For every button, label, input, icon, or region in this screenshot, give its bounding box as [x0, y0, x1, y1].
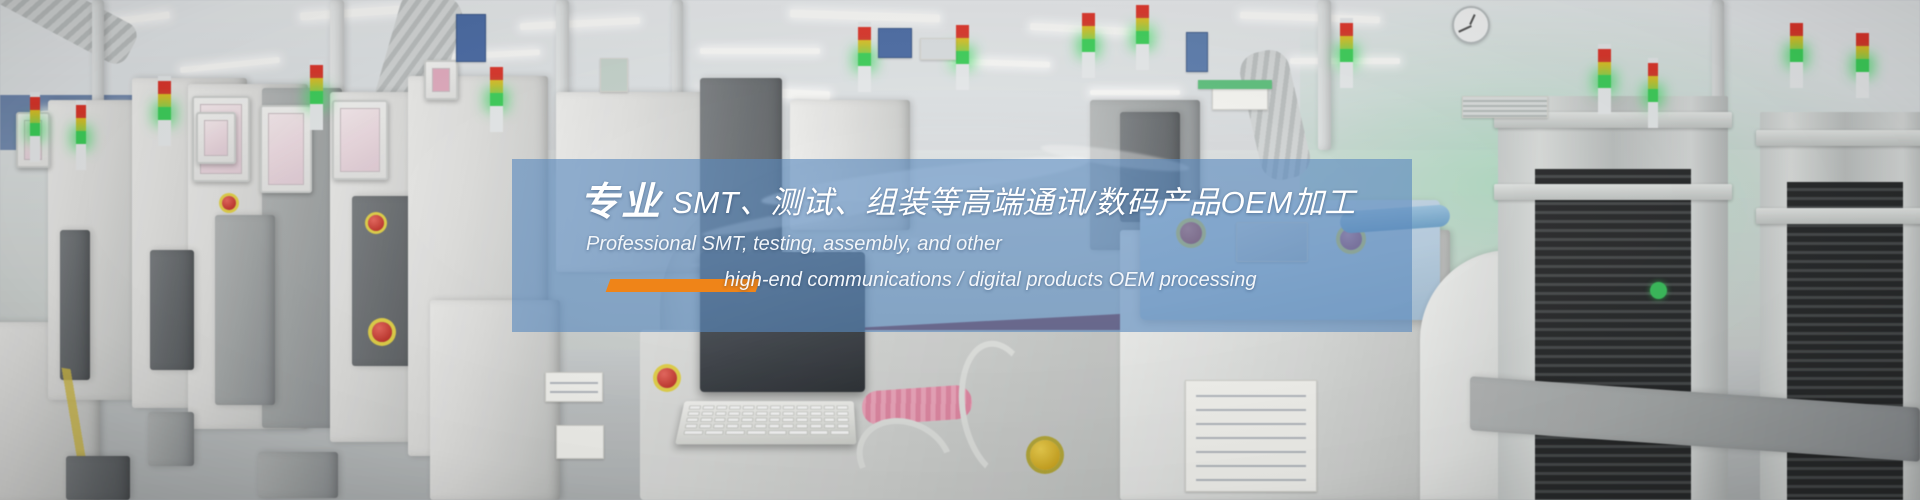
tower-light-icon: [1340, 18, 1353, 88]
tower-light-icon: [858, 22, 871, 92]
hero-subtitle-line-1: Professional SMT, testing, assembly, and…: [586, 233, 1002, 256]
emergency-stop-icon[interactable]: [372, 322, 392, 342]
emergency-stop-icon[interactable]: [657, 368, 677, 388]
machine-hmi-panel[interactable]: [196, 112, 236, 164]
smt-feeder-rack: [150, 250, 194, 370]
smt-machine-body: [215, 215, 275, 405]
machine-hmi-panel[interactable]: [260, 105, 312, 193]
ceiling-lamp: [1090, 90, 1180, 95]
machine-hmi-panel[interactable]: [424, 60, 458, 100]
tower-light-icon: [76, 100, 86, 170]
machine-hmi-panel[interactable]: [332, 100, 388, 180]
floor-cart: [66, 456, 130, 500]
tower-light-icon: [1598, 44, 1611, 114]
tower-light-icon: [1790, 18, 1803, 88]
hero-subtitle-line-2: high-end communications / digital produc…: [724, 269, 1256, 292]
wall-notice-board: [1212, 88, 1268, 110]
rack-cross-beam: [1494, 184, 1732, 200]
rack-cross-beam: [1756, 208, 1920, 224]
hero-banner-stage: 专业SMT、测试、组装等高端通讯/数码产品OEM加工 Professional …: [0, 0, 1920, 500]
wall-clock-icon: [1452, 6, 1490, 44]
tower-light-icon: [310, 60, 323, 130]
machine-name-plate: [556, 425, 604, 459]
rack-cross-beam: [1756, 130, 1920, 146]
tower-light-icon: [1136, 0, 1149, 70]
hanging-info-board: [878, 28, 912, 58]
tower-light-icon: [158, 76, 171, 146]
support-pole: [1318, 0, 1331, 150]
ceiling-lamp: [700, 48, 820, 54]
keyboard-icon[interactable]: [675, 401, 856, 444]
hanging-info-board: [920, 38, 956, 60]
smt-feeder-rack: [60, 230, 90, 380]
tower-light-icon: [490, 62, 503, 132]
tower-light-icon: [30, 92, 40, 162]
hanging-info-board: [1186, 32, 1208, 72]
green-indicator-strip: [1198, 80, 1272, 89]
tower-light-icon: [1856, 28, 1869, 98]
hanging-info-board: [600, 58, 628, 92]
floor-cart: [258, 452, 338, 498]
hero-text-overlay-panel: 专业SMT、测试、组装等高端通讯/数码产品OEM加工 Professional …: [512, 159, 1412, 332]
hero-headline-emphasis: 专业: [580, 181, 662, 224]
emergency-stop-icon[interactable]: [1030, 440, 1060, 470]
hero-headline: 专业SMT、测试、组装等高端通讯/数码产品OEM加工: [580, 171, 1356, 227]
wall-vent-grille: [1462, 96, 1548, 118]
emergency-stop-icon[interactable]: [368, 215, 384, 231]
floor-cart: [148, 412, 194, 466]
tower-light-icon: [1648, 58, 1658, 128]
tower-light-icon: [956, 20, 969, 90]
rack-status-dot: [1650, 282, 1667, 299]
machine-name-plate: [545, 372, 603, 402]
emergency-stop-icon[interactable]: [222, 196, 236, 210]
hanging-info-board: [456, 14, 486, 62]
machine-info-sheet: [1185, 380, 1317, 492]
tower-light-icon: [1082, 8, 1095, 78]
hero-headline-rest: SMT、测试、组装等高端通讯/数码产品OEM加工: [672, 185, 1356, 220]
